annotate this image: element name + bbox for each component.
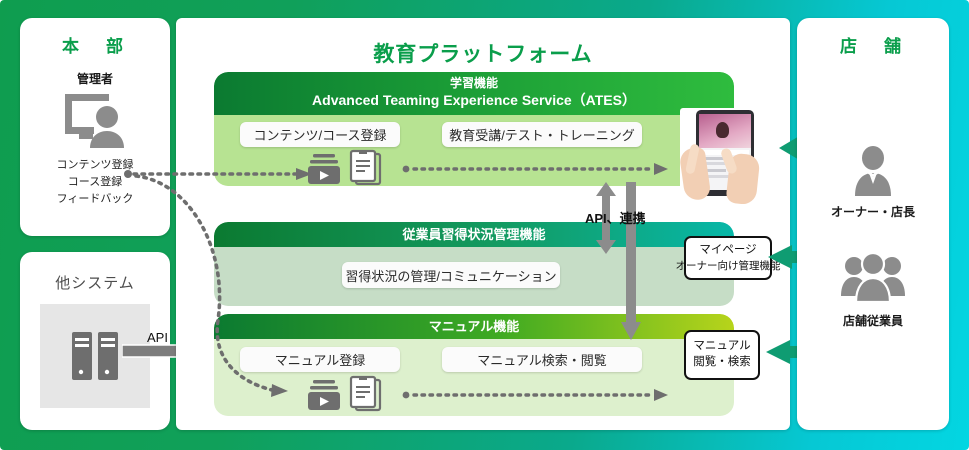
store-staff-label: 店舗従業員 [797, 312, 949, 329]
other-system-title: 他システム [20, 272, 170, 293]
progress-block-header: 従業員習得状況管理機能 [214, 222, 734, 247]
progress-block-body: 習得状況の管理/コミュニケーション [214, 247, 734, 306]
callout-mypage[interactable]: マイページ オーナー向け管理機能 [684, 236, 772, 280]
clipboard-stack-icon [348, 149, 382, 186]
tablet-in-hands-photo [680, 108, 772, 204]
media-stack-icon [306, 379, 342, 411]
api-arrow-label: API [147, 330, 168, 345]
hq-title: 本 部 [20, 32, 170, 57]
api-link-label: API、連携 [585, 208, 646, 227]
pill-manual-search-view[interactable]: マニュアル検索・閲覧 [442, 347, 642, 372]
manual-block-header: マニュアル機能 [214, 314, 734, 339]
hq-task-1: コンテンツ登録 [20, 158, 170, 174]
server-rack-icon [70, 330, 120, 382]
diagram-root: 本 部 管理者 コンテンツ登録 コース登録 フィードバック 他システム [0, 0, 969, 450]
pill-training-test[interactable]: 教育受講/テスト・トレーニング [442, 122, 642, 147]
clipboard-stack-icon [348, 375, 382, 413]
callout-manual-line2: 閲覧・検索 [693, 355, 751, 371]
manager-monitor-person-icon [61, 90, 131, 152]
learning-block-header: 学習機能 Advanced Teaming Experience Service… [214, 72, 734, 115]
store-title: 店 舗 [797, 32, 949, 57]
pill-manual-registration[interactable]: マニュアル登録 [240, 347, 400, 372]
learning-header-line2: Advanced Teaming Experience Service（ATES… [214, 92, 734, 109]
manual-block-body: マニュアル登録 マニュアル検索・閲覧 [214, 339, 734, 416]
media-stack-icon [306, 153, 342, 185]
learning-flow-dotted-arrow [402, 163, 670, 175]
block-manual-function: マニュアル機能 マニュアル登録 マニュアル検索・閲覧 [214, 314, 734, 416]
callout-mypage-line1: マイページ [699, 243, 756, 259]
store-owner-label: オーナー・店長 [797, 203, 949, 220]
pill-progress-management[interactable]: 習得状況の管理/コミュニケーション [342, 262, 560, 288]
block-learning-function: 学習機能 Advanced Teaming Experience Service… [214, 72, 734, 186]
callout-manual[interactable]: マニュアル 閲覧・検索 [684, 330, 760, 380]
panel-headquarters: 本 部 管理者 コンテンツ登録 コース登録 フィードバック [20, 18, 170, 236]
learning-header-line1: 学習機能 [214, 75, 734, 92]
hq-role-label: 管理者 [20, 70, 170, 87]
hq-task-2: コース登録 [20, 175, 170, 191]
people-group-icon [840, 250, 906, 302]
manual-flow-dotted-arrow [402, 389, 670, 401]
callout-mypage-line2: オーナー向け管理機能 [676, 259, 781, 273]
pill-content-course-registration[interactable]: コンテンツ/コース登録 [240, 122, 400, 147]
panel-store: 店 舗 オーナー・店長 店舗従業員 [797, 18, 949, 430]
api-link-down-arrow [621, 182, 641, 340]
callout-manual-line1: マニュアル [693, 339, 750, 355]
page-title: 教育プラットフォーム [176, 38, 790, 68]
hq-task-3: フィードバック [20, 192, 170, 208]
block-progress-function: 従業員習得状況管理機能 習得状況の管理/コミュニケーション [214, 222, 734, 306]
learning-block-body: コンテンツ/コース登録 教育受講/テスト・トレーニング [214, 115, 734, 186]
business-person-icon [850, 146, 896, 196]
